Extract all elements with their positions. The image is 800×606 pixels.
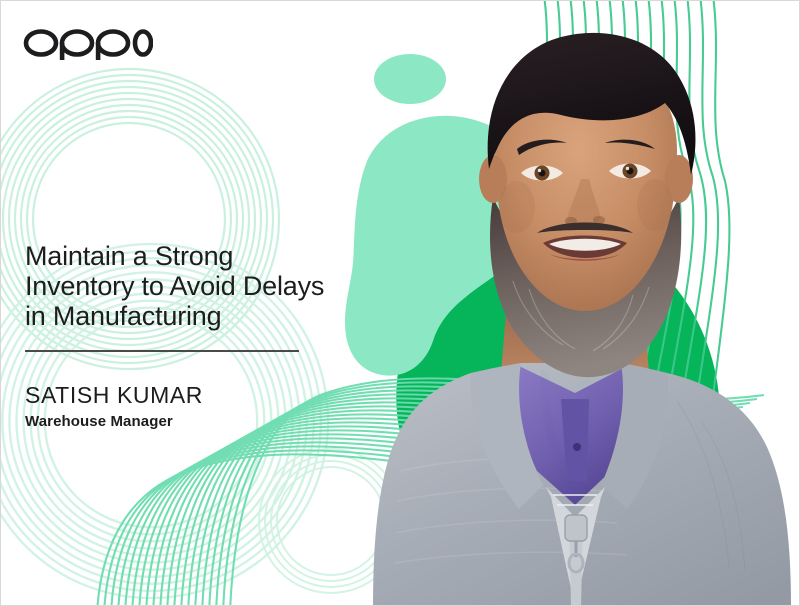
testimonial-card: Maintain a Strong Inventory to Avoid Del…	[0, 0, 800, 606]
face	[495, 57, 677, 311]
zipper-tape	[546, 487, 605, 606]
mint-blob-dot	[374, 54, 446, 104]
ear-right	[665, 155, 693, 203]
moustache	[537, 223, 633, 234]
oppo-logo	[23, 19, 153, 61]
fleece-collar-left	[470, 363, 543, 509]
logo-p1-stem	[60, 43, 65, 60]
logo-p2-stem	[96, 43, 101, 60]
fleece-collar-right	[601, 363, 668, 509]
eyebrow-right	[605, 140, 655, 149]
ear-left	[479, 155, 507, 203]
mouth	[543, 236, 627, 259]
eye-left	[521, 166, 563, 181]
beard	[490, 197, 681, 377]
polo-collar	[516, 365, 630, 505]
logo-letter-o2	[135, 32, 151, 55]
logo-letter-p1	[62, 32, 92, 55]
divider	[25, 350, 299, 352]
logo-letter-o1	[26, 32, 56, 55]
testimonial-content: Maintain a Strong Inventory to Avoid Del…	[25, 241, 375, 431]
teeth	[549, 239, 621, 251]
speaker-name: SATISH KUMAR	[25, 383, 375, 408]
eye-right	[609, 164, 651, 179]
logo-letter-p2	[98, 32, 128, 55]
speaker-role: Warehouse Manager	[25, 413, 375, 431]
fleece-body	[373, 363, 791, 606]
nose	[567, 179, 601, 225]
page-title: Maintain a Strong Inventory to Avoid Del…	[25, 241, 375, 331]
eyebrow-left	[517, 140, 567, 155]
concentric-rings-small	[259, 449, 403, 593]
green-backdrop-shape	[396, 228, 720, 559]
hair	[488, 33, 696, 175]
wave-lines-top	[544, 1, 730, 445]
